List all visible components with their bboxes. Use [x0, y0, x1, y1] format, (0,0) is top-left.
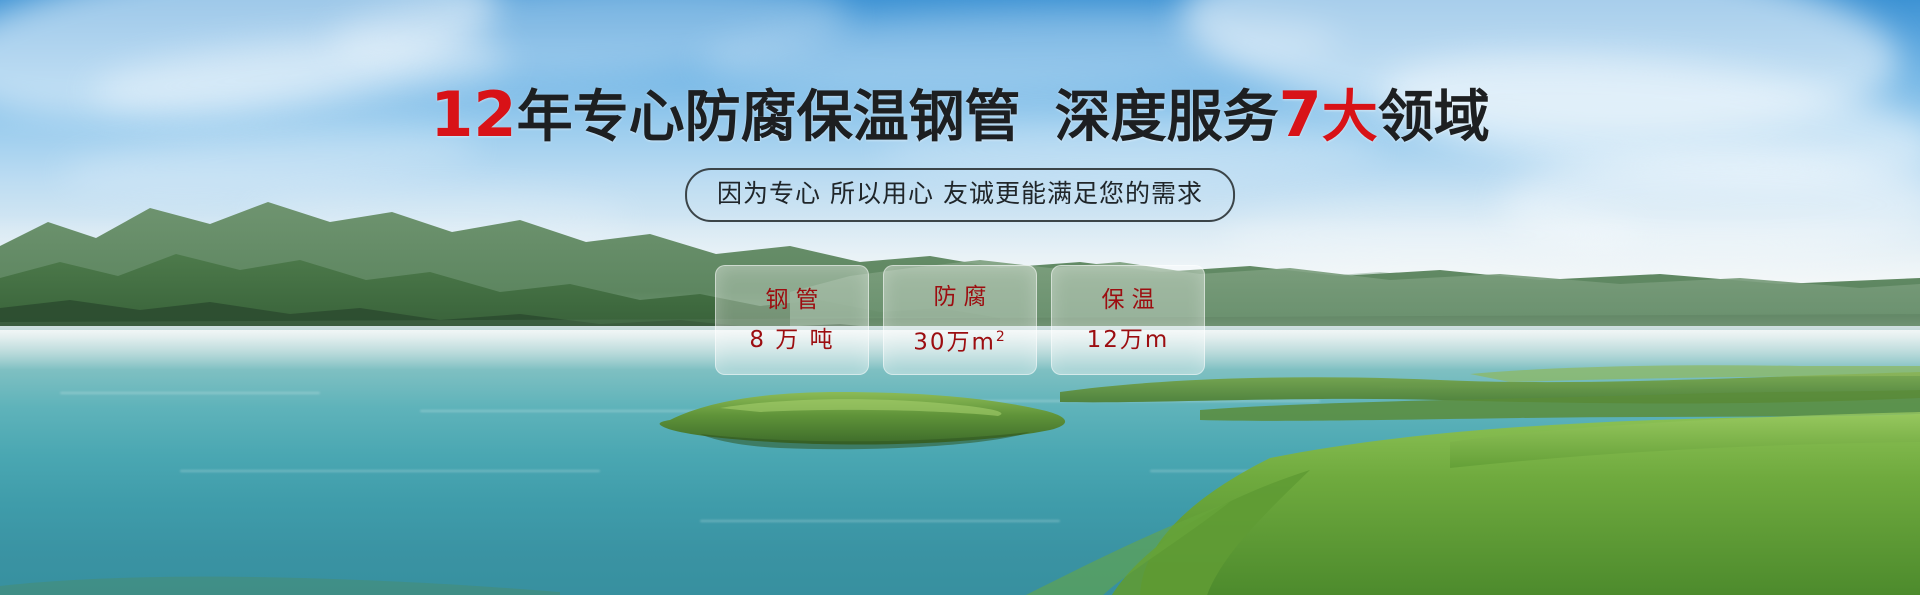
hero-banner: 12年专心防腐保温钢管深度服务7大领域 因为专心 所以用心 友诚更能满足您的需求…	[0, 0, 1920, 595]
stat-card-anticorrosion: 防腐 30万m2	[883, 265, 1037, 375]
stats-card-group: 钢管 8 万 吨 防腐 30万m2 保温 12万m	[715, 265, 1205, 375]
water-ripple	[60, 392, 320, 394]
page-title: 12年专心防腐保温钢管深度服务7大领域	[0, 84, 1920, 149]
stat-card-steel-pipe: 钢管 8 万 吨	[715, 265, 869, 375]
headline-fields-number: 7	[1279, 78, 1322, 151]
stat-card-value: 30万m2	[913, 324, 1007, 356]
stat-card-value-exponent: 2	[996, 329, 1007, 345]
stat-card-value-text: 8 万 吨	[749, 327, 834, 353]
subtitle-pill: 因为专心 所以用心 友诚更能满足您的需求	[685, 168, 1235, 222]
headline-part-two: 深度服务	[1055, 85, 1279, 150]
water-ripple	[700, 520, 1060, 522]
stat-card-value: 12万m	[1087, 327, 1170, 353]
shore-grass-edge	[0, 540, 560, 595]
stat-card-title: 防腐	[927, 284, 994, 310]
headline-part-one: 年专心防腐保温钢管	[517, 85, 1021, 150]
stat-card-value-text: 30万m	[913, 330, 996, 356]
stat-card-insulation: 保温 12万m	[1051, 265, 1205, 375]
stat-card-title: 保温	[1095, 287, 1162, 313]
headline-years-number: 12	[430, 78, 516, 151]
headline-big-char: 大	[1322, 85, 1378, 150]
headline-part-three: 领域	[1378, 85, 1490, 150]
stat-card-value-text: 12万m	[1087, 327, 1170, 353]
foreground-grass-field	[1020, 398, 1920, 595]
water-ripple	[180, 470, 600, 472]
stat-card-value: 8 万 吨	[749, 327, 834, 353]
stat-card-title: 钢管	[759, 287, 826, 313]
